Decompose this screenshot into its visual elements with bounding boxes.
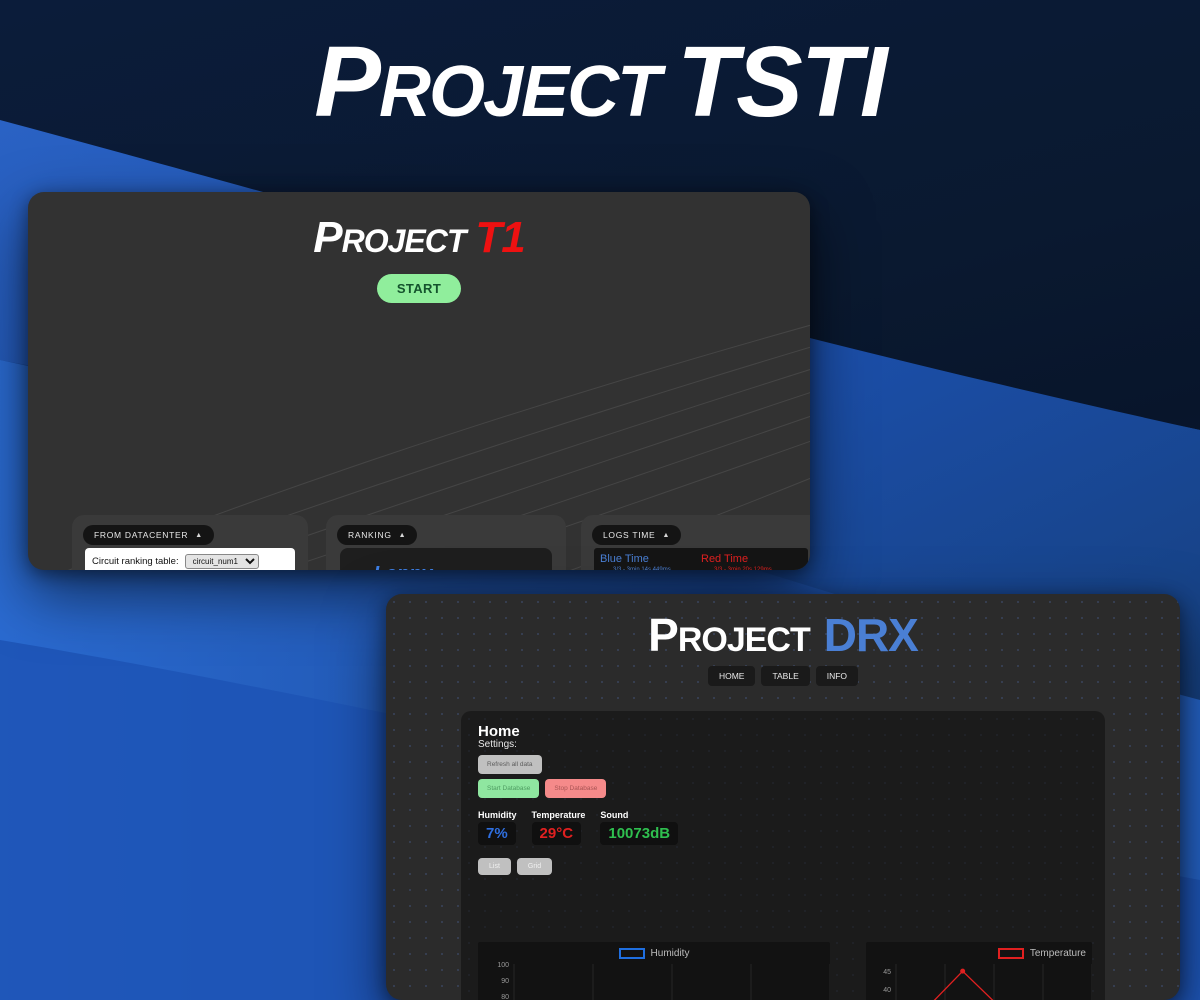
- chart-humidity-plot: 100908070605040: [478, 942, 830, 1000]
- panel-tab-from-datacenter[interactable]: FROM DATACENTER ▲: [83, 525, 214, 545]
- start-button[interactable]: START: [377, 274, 461, 303]
- chevron-up-icon: ▲: [195, 532, 203, 539]
- circuit-select-row: Circuit ranking table: circuit_num1: [85, 548, 295, 570]
- svg-text:100: 100: [497, 962, 509, 969]
- settings-label: Settings:: [478, 739, 1105, 750]
- nav-tab-home[interactable]: HOME: [708, 666, 756, 686]
- drx-logo-drx: DRX: [824, 609, 918, 661]
- logs-blue-title: Blue Time: [600, 553, 701, 565]
- charts-row: Humidity 100908070605040 Temperature 454…: [478, 942, 1092, 1000]
- panel-from-datacenter: FROM DATACENTER ▲ Circuit ranking table:…: [72, 515, 308, 570]
- stop-database-button[interactable]: Stop Database: [545, 779, 606, 798]
- drx-logo-p: P: [648, 609, 678, 661]
- sensor-humidity-label: Humidity: [478, 810, 517, 820]
- panel-tab-ranking[interactable]: RANKING ▲: [337, 525, 417, 545]
- ranking-box: 1stLenny 2ndLil Ronan: [340, 548, 552, 570]
- log-item-blue: 3/3 - 3min 14s 449ms: [613, 566, 701, 570]
- chevron-up-icon: ▲: [399, 532, 407, 539]
- svg-text:40: 40: [883, 987, 891, 994]
- view-grid-button[interactable]: Grid: [517, 858, 552, 875]
- circuit-ranking-card: Circuit ranking table: circuit_num1 Nick…: [85, 548, 295, 570]
- chart-temperature-plot: 454035302520: [866, 942, 1092, 1000]
- sensor-temperature-value: 29°C: [532, 822, 582, 845]
- sensor-readouts: Humidity 7% Temperature 29°C Sound 10073…: [478, 810, 1105, 845]
- logs-red-column: Red Time 3/3 - 3min 20s 129ms2/3 - 2min …: [701, 553, 802, 570]
- desktop-title: PROJECTTSTI: [0, 32, 1200, 132]
- svg-text:90: 90: [501, 978, 509, 985]
- sensor-sound-label: Sound: [600, 810, 678, 820]
- ranking-entry-1: 1stLenny: [362, 564, 552, 570]
- nav-tab-info[interactable]: INFO: [816, 666, 858, 686]
- drx-nav: HOME TABLE INFO: [386, 666, 1180, 686]
- drx-home-content: Home Settings: Refresh all data Start Da…: [461, 711, 1105, 875]
- chart-humidity: Humidity 100908070605040: [478, 942, 830, 1000]
- panel-ranking: RANKING ▲ 1stLenny 2ndLil Ronan: [326, 515, 566, 570]
- drx-body: Home Settings: Refresh all data Start Da…: [461, 711, 1105, 1000]
- panel-tab-label: FROM DATACENTER: [94, 530, 188, 540]
- panel-tab-label: RANKING: [348, 530, 392, 540]
- view-toggle: List Grid: [478, 858, 1105, 875]
- sensor-sound-value: 10073dB: [600, 822, 678, 845]
- project-t1-logo: PROJECTT1: [28, 192, 810, 260]
- page-title: Home: [478, 723, 1105, 740]
- sensor-temperature-label: Temperature: [532, 810, 586, 820]
- refresh-all-data-button[interactable]: Refresh all data: [478, 755, 542, 774]
- sensor-sound: Sound 10073dB: [600, 810, 678, 845]
- t1-logo-roject: ROJECT: [342, 223, 466, 259]
- chevron-up-icon: ▲: [662, 532, 670, 539]
- database-buttons-row: Start Database Stop Database: [478, 779, 1105, 798]
- start-database-button[interactable]: Start Database: [478, 779, 539, 798]
- svg-text:80: 80: [501, 994, 509, 1000]
- svg-text:45: 45: [883, 969, 891, 976]
- panel-tab-logs-time[interactable]: LOGS TIME ▲: [592, 525, 681, 545]
- sensor-humidity-value: 7%: [478, 822, 516, 845]
- nav-tab-table[interactable]: TABLE: [761, 666, 809, 686]
- circuit-select[interactable]: circuit_num1: [185, 554, 259, 569]
- drx-header: PROJECTDRX HOME TABLE INFO: [386, 594, 1180, 686]
- desktop-title-tsti: TSTI: [677, 26, 886, 138]
- sensor-humidity: Humidity 7%: [478, 810, 517, 845]
- logs-blue-list: 3/3 - 3min 14s 449ms2/3 - 2min 25s 124ms…: [613, 566, 701, 570]
- log-item-red: 3/3 - 3min 20s 129ms: [714, 566, 802, 570]
- t1-logo-t1: T1: [475, 213, 524, 262]
- logs-blue-column: Blue Time 3/3 - 3min 14s 449ms2/3 - 2min…: [600, 553, 701, 570]
- desktop: PROJECTTSTI PROJECTT1 START FROM DATAC: [0, 0, 1200, 1000]
- sensor-temperature: Temperature 29°C: [532, 810, 586, 845]
- chart-temperature: Temperature 454035302520: [866, 942, 1092, 1000]
- refresh-row: Refresh all data: [478, 755, 1105, 774]
- desktop-title-roject: ROJECT: [379, 52, 659, 132]
- project-drx-window: PROJECTDRX HOME TABLE INFO Home Settings…: [386, 594, 1180, 1000]
- circuit-select-label: Circuit ranking table:: [92, 556, 179, 567]
- t1-logo-p: P: [313, 213, 341, 262]
- panel-tab-label: LOGS TIME: [603, 530, 655, 540]
- logs-box: Blue Time 3/3 - 3min 14s 449ms2/3 - 2min…: [594, 548, 808, 570]
- project-drx-logo: PROJECTDRX: [386, 612, 1180, 658]
- logs-red-title: Red Time: [701, 553, 802, 565]
- project-t1-window: PROJECTT1 START FROM DATACENTER ▲ Circui…: [28, 192, 810, 570]
- drx-logo-roject: ROJECT: [678, 621, 810, 659]
- logs-red-list: 3/3 - 3min 20s 129ms2/3 - 2min 12s 176ms…: [714, 566, 802, 570]
- view-list-button[interactable]: List: [478, 858, 511, 875]
- panel-logs-time: LOGS TIME ▲ Blue Time 3/3 - 3min 14s 449…: [581, 515, 810, 570]
- ranking-name-1: Lenny: [374, 563, 433, 570]
- desktop-title-p: P: [314, 26, 379, 138]
